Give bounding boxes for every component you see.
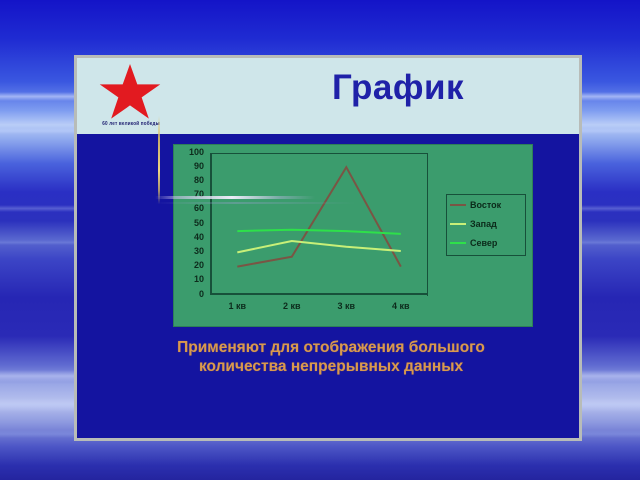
y-tick-label: 30 <box>194 247 204 256</box>
caption-line-1: Применяют для отображения большого <box>101 339 561 358</box>
light-horizontal-accent-line <box>155 196 315 199</box>
x-axis-tick-labels: 1 кв2 кв3 кв4 кв <box>210 301 428 315</box>
legend-item: Запад <box>447 214 525 233</box>
x-tick-label: 2 кв <box>283 301 301 311</box>
chart-series-lines <box>210 153 428 296</box>
y-tick-label: 40 <box>194 233 204 242</box>
legend-label: Запад <box>470 219 497 229</box>
slide-caption: Применяют для отображения большого колич… <box>101 339 561 377</box>
y-tick-label: 50 <box>194 219 204 228</box>
legend-item: Север <box>447 233 525 252</box>
chart-legend: ВостокЗападСевер <box>446 194 526 256</box>
presentation-slide: 60 лет великой победы График 01020304050… <box>74 55 582 441</box>
y-tick-label: 100 <box>189 148 204 157</box>
series-line-север <box>237 230 400 234</box>
series-line-запад <box>237 241 400 252</box>
logo-subtitle: 60 лет великой победы <box>87 120 175 126</box>
red-star-icon <box>99 64 161 122</box>
y-tick-label: 60 <box>194 204 204 213</box>
legend-label: Север <box>470 238 497 248</box>
caption-line-2: количества непрерывных данных <box>101 358 561 377</box>
series-line-восток <box>237 167 400 266</box>
y-axis-tick-labels: 0102030405060708090100 <box>178 151 204 301</box>
y-tick-label: 20 <box>194 261 204 270</box>
y-tick-label: 10 <box>194 275 204 284</box>
slide-header: 60 лет великой победы График <box>77 58 579 134</box>
slide-viewer: 60 лет великой победы График 01020304050… <box>0 0 640 480</box>
x-tick-label: 1 кв <box>228 301 246 311</box>
page-title: График <box>217 68 579 108</box>
light-horizontal-accent-line-secondary <box>155 202 355 204</box>
gold-vertical-accent-line <box>158 116 160 204</box>
chart-plot-area: 0102030405060708090100 1 кв2 кв3 кв4 кв <box>174 145 440 328</box>
legend-swatch-icon <box>450 223 466 225</box>
legend-item: Восток <box>447 195 525 214</box>
line-chart: 0102030405060708090100 1 кв2 кв3 кв4 кв … <box>173 144 533 327</box>
slide-body: 0102030405060708090100 1 кв2 кв3 кв4 кв … <box>77 134 579 438</box>
y-tick-label: 90 <box>194 162 204 171</box>
y-tick-label: 80 <box>194 176 204 185</box>
y-tick-label: 0 <box>199 290 204 299</box>
x-tick-label: 3 кв <box>337 301 355 311</box>
x-tick-label: 4 кв <box>392 301 410 311</box>
legend-label: Восток <box>470 200 501 210</box>
legend-swatch-icon <box>450 204 466 206</box>
legend-swatch-icon <box>450 242 466 244</box>
victory-logo: 60 лет великой победы <box>85 60 175 132</box>
